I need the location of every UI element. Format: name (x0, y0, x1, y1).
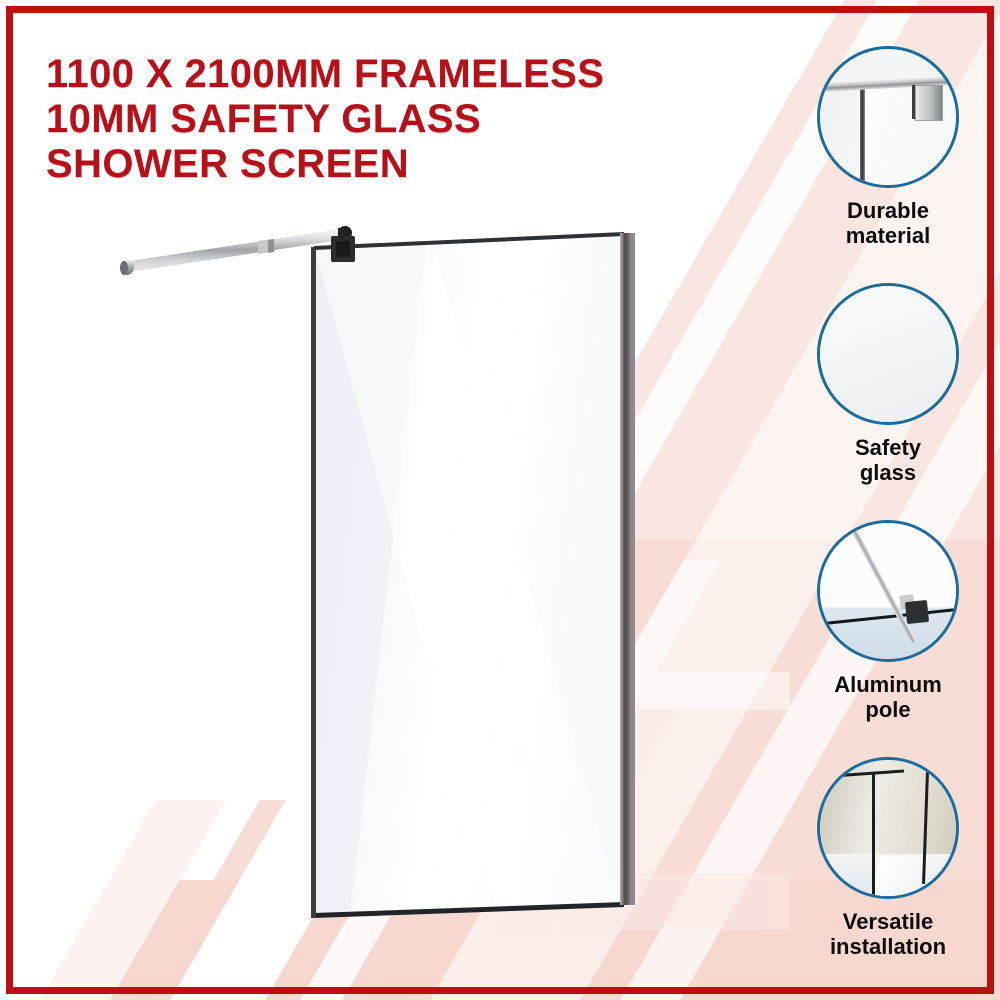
support-pole (124, 229, 340, 273)
pole-wall-cap-inner (120, 261, 128, 275)
title-line-2: 10MM SAFETY GLASS (46, 97, 666, 142)
feature-label-line-1: Aluminum (788, 672, 988, 697)
feature-label-line-2: pole (788, 697, 988, 722)
feature-label-line-2: material (788, 223, 988, 248)
title-line-3: SHOWER SCREEN (46, 142, 666, 187)
bracket-neck (338, 228, 344, 240)
title-line-1: 1100 X 2100MM FRAMELESS (46, 52, 666, 97)
versatile-installation-icon (817, 757, 959, 899)
feature-safety-glass: Safety glass (788, 283, 988, 485)
feature-label-line-1: Safety (788, 435, 988, 460)
feature-label: Aluminum pole (788, 672, 988, 722)
glass-left-edge (311, 247, 316, 918)
pole-joint-ring (268, 239, 274, 253)
aluminium-support-arm (120, 229, 340, 275)
feature-list: Durable material (788, 46, 988, 986)
feature-label-line-2: installation (788, 934, 988, 959)
feature-label-line-2: glass (788, 460, 988, 485)
feature-durable-material: Durable material (788, 46, 988, 248)
page-title: 1100 X 2100MM FRAMELESS 10MM SAFETY GLAS… (46, 52, 666, 187)
safety-glass-icon (817, 283, 959, 425)
glass-right-edge-highlight (631, 233, 635, 905)
durable-material-icon (817, 46, 959, 188)
product-image-canvas: 1100 X 2100MM FRAMELESS 10MM SAFETY GLAS… (0, 0, 1000, 1000)
feature-label: Safety glass (788, 435, 988, 485)
feature-label: Versatile installation (788, 909, 988, 959)
glass-panel (311, 232, 635, 918)
aluminum-pole-icon (817, 520, 959, 662)
bracket-inner (336, 241, 350, 257)
feature-aluminum-pole: Aluminum pole (788, 520, 988, 722)
feature-label: Durable material (788, 198, 988, 248)
feature-label-line-1: Durable (788, 198, 988, 223)
feature-versatile-installation: Versatile installation (788, 757, 988, 959)
feature-label-line-1: Versatile (788, 909, 988, 934)
